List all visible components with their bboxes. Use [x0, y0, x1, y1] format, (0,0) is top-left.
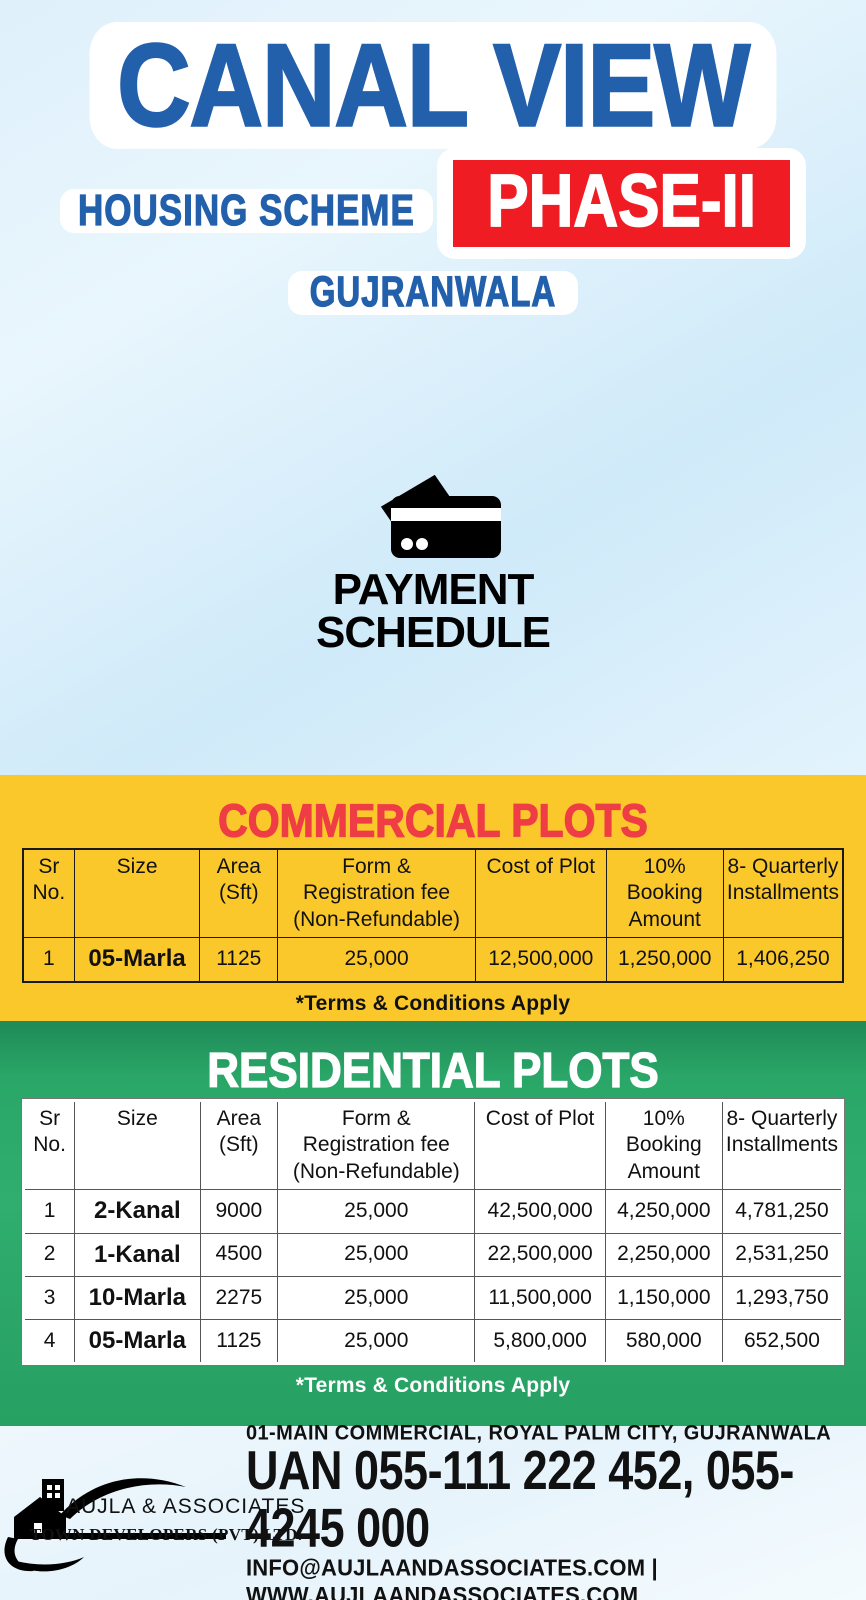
cell-sr: 1 — [23, 938, 74, 982]
col-header-form-registration-fee: Form & Registration fee (Non-Refundable) — [278, 849, 476, 938]
cell-area: 4500 — [200, 1233, 278, 1276]
scheme-subtitle-wrap: HOUSING SCHEME — [60, 189, 433, 233]
commercial-table-wrap: Sr No. Size Area (Sft) Form & Registra — [0, 848, 866, 1016]
table-header-row: Sr No. Size Area (Sft) Form & Registra — [23, 849, 843, 938]
commercial-section-title: COMMERCIAL PLOTS — [0, 775, 866, 857]
col-header-size: Size — [75, 1101, 200, 1190]
table-row: 1 05-Marla 1125 25,000 12,500,000 1,250,… — [23, 938, 843, 982]
cell-cost: 12,500,000 — [476, 938, 606, 982]
header-text: Area — [217, 855, 261, 878]
cell-cost: 5,800,000 — [475, 1320, 605, 1364]
footer-section: AUJLA & ASSOCIATES TOWN DEVELOPERS (PVT)… — [0, 1426, 866, 1600]
cell-installment: 1,293,750 — [722, 1276, 842, 1319]
col-header-area: Area (Sft) — [200, 849, 278, 938]
cell-area: 9000 — [200, 1190, 278, 1233]
col-header-booking-amount: 10% Booking Amount — [605, 1101, 722, 1190]
table-row: 1 2-Kanal 9000 25,000 42,500,000 4,250,0… — [24, 1190, 843, 1233]
cell-area: 2275 — [200, 1276, 278, 1319]
cell-installment: 1,406,250 — [723, 938, 843, 982]
company-logo: AUJLA & ASSOCIATES TOWN DEVELOPERS (PVT)… — [0, 1453, 240, 1573]
scheme-subtitle: HOUSING SCHEME — [78, 186, 415, 236]
cell-booking: 2,250,000 — [605, 1233, 722, 1276]
header-text: No. — [33, 881, 66, 904]
col-header-quarterly-installments: 8- Quarterly Installments — [722, 1101, 842, 1190]
title-stack: CANAL VIEW HOUSING SCHEME PHASE-II GUJRA… — [0, 22, 866, 315]
cell-size: 05-Marla — [74, 938, 200, 982]
table-header-row: Sr No. Size Area (Sft) Form & Registra — [24, 1101, 843, 1190]
cell-sr: 4 — [24, 1320, 75, 1364]
residential-plots-table: Sr No. Size Area (Sft) Form & Registra — [22, 1099, 844, 1365]
cell-size: 05-Marla — [75, 1320, 200, 1364]
col-header-sr-no: Sr No. — [23, 849, 74, 938]
header-text: Registration fee — [303, 881, 450, 904]
footer-email-website[interactable]: INFO@AUJLAANDASSOCIATES.COM | WWW.AUJLAA… — [246, 1554, 866, 1600]
commercial-plots-section: COMMERCIAL PLOTS Sr No. Size — [0, 775, 866, 1021]
footer-contact-info: 01-MAIN COMMERCIAL, ROYAL PALM CITY, GUJ… — [240, 1418, 866, 1600]
cell-size: 2-Kanal — [75, 1190, 200, 1233]
header-text: Registration fee — [303, 1133, 450, 1156]
hero-section: CANAL VIEW HOUSING SCHEME PHASE-II GUJRA… — [0, 0, 866, 775]
city-badge: GUJRANWALA — [288, 271, 579, 315]
cell-booking: 1,250,000 — [606, 938, 723, 982]
cell-cost: 42,500,000 — [475, 1190, 605, 1233]
cell-sr: 3 — [24, 1276, 75, 1319]
header-text: 8- Quarterly — [727, 1107, 838, 1130]
payment-title-line2: SCHEDULE — [0, 611, 866, 654]
residential-table-wrap: Sr No. Size Area (Sft) Form & Registra — [0, 1099, 866, 1398]
header-text: Amount — [629, 908, 701, 931]
header-text: (Non-Refundable) — [293, 908, 460, 931]
cell-sr: 2 — [24, 1233, 75, 1276]
table-row: 4 05-Marla 1125 25,000 5,800,000 580,000… — [24, 1320, 843, 1364]
cell-form-fee: 25,000 — [278, 1190, 475, 1233]
header-text: Form & — [342, 1107, 411, 1130]
residential-plots-section: RESIDENTIAL PLOTS Sr No. Size — [0, 1021, 866, 1426]
credit-card-icon — [345, 470, 521, 562]
cell-booking: 1,150,000 — [605, 1276, 722, 1319]
header-text: Area — [217, 1107, 261, 1130]
header-text: 8- Quarterly — [728, 855, 839, 878]
cell-installment: 4,781,250 — [722, 1190, 842, 1233]
table-row: 2 1-Kanal 4500 25,000 22,500,000 2,250,0… — [24, 1233, 843, 1276]
header-text: Amount — [628, 1160, 700, 1183]
payment-title-line1: PAYMENT — [0, 568, 866, 611]
header-text: No. — [33, 1133, 66, 1156]
header-text: Booking — [626, 1133, 702, 1156]
header-text: Installments — [727, 881, 839, 904]
cell-area: 1125 — [200, 938, 278, 982]
cell-installment: 2,531,250 — [722, 1233, 842, 1276]
header-text: 10% — [643, 1107, 685, 1130]
cell-form-fee: 25,000 — [278, 1233, 475, 1276]
col-header-area: Area (Sft) — [200, 1101, 278, 1190]
col-header-cost-of-plot: Cost of Plot — [475, 1101, 605, 1190]
footer-phone[interactable]: UAN 055-111 222 452, 055-4245 000 — [246, 1442, 866, 1557]
phase-label: PHASE-II — [487, 159, 756, 244]
cell-size: 1-Kanal — [75, 1233, 200, 1276]
header-text: Cost of Plot — [486, 855, 595, 878]
project-title: CANAL VIEW — [89, 22, 776, 149]
col-header-cost-of-plot: Cost of Plot — [476, 849, 606, 938]
cell-cost: 11,500,000 — [475, 1276, 605, 1319]
table-row: 3 10-Marla 2275 25,000 11,500,000 1,150,… — [24, 1276, 843, 1319]
header-text: Cost of Plot — [486, 1107, 595, 1130]
col-header-form-registration-fee: Form & Registration fee (Non-Refundable) — [278, 1101, 475, 1190]
col-header-booking-amount: 10% Booking Amount — [606, 849, 723, 938]
commercial-terms-note: *Terms & Conditions Apply — [22, 983, 844, 1016]
header-text: Sr — [38, 855, 59, 878]
col-header-quarterly-installments: 8- Quarterly Installments — [723, 849, 843, 938]
col-header-sr-no: Sr No. — [24, 1101, 75, 1190]
poster-root: CANAL VIEW HOUSING SCHEME PHASE-II GUJRA… — [0, 0, 866, 1600]
city-label: GUJRANWALA — [310, 268, 557, 317]
cell-sr: 1 — [24, 1190, 75, 1233]
residential-section-title: RESIDENTIAL PLOTS — [0, 1021, 866, 1108]
residential-terms-note: *Terms & Conditions Apply — [22, 1365, 844, 1398]
cell-form-fee: 25,000 — [278, 938, 476, 982]
cell-cost: 22,500,000 — [475, 1233, 605, 1276]
cell-booking: 580,000 — [605, 1320, 722, 1364]
commercial-plots-table: Sr No. Size Area (Sft) Form & Registra — [22, 848, 844, 983]
header-text: (Non-Refundable) — [293, 1160, 460, 1183]
header-text: Booking — [627, 881, 703, 904]
header-text: (Sft) — [219, 1133, 259, 1156]
cell-form-fee: 25,000 — [278, 1276, 475, 1319]
phase-badge: PHASE-II — [437, 148, 806, 259]
phase-badge-box: PHASE-II — [453, 160, 790, 247]
cell-size: 10-Marla — [75, 1276, 200, 1319]
header-text: Form & — [342, 855, 411, 878]
payment-schedule-block: PAYMENT SCHEDULE — [0, 470, 866, 654]
header-text: 10% — [644, 855, 686, 878]
header-text: Size — [117, 855, 158, 878]
cell-area: 1125 — [200, 1320, 278, 1364]
cell-form-fee: 25,000 — [278, 1320, 475, 1364]
header-text: Sr — [39, 1107, 60, 1130]
cell-installment: 652,500 — [722, 1320, 842, 1364]
header-text: Size — [117, 1107, 158, 1130]
col-header-size: Size — [74, 849, 200, 938]
header-text: (Sft) — [219, 881, 259, 904]
header-text: Installments — [726, 1133, 838, 1156]
cell-booking: 4,250,000 — [605, 1190, 722, 1233]
